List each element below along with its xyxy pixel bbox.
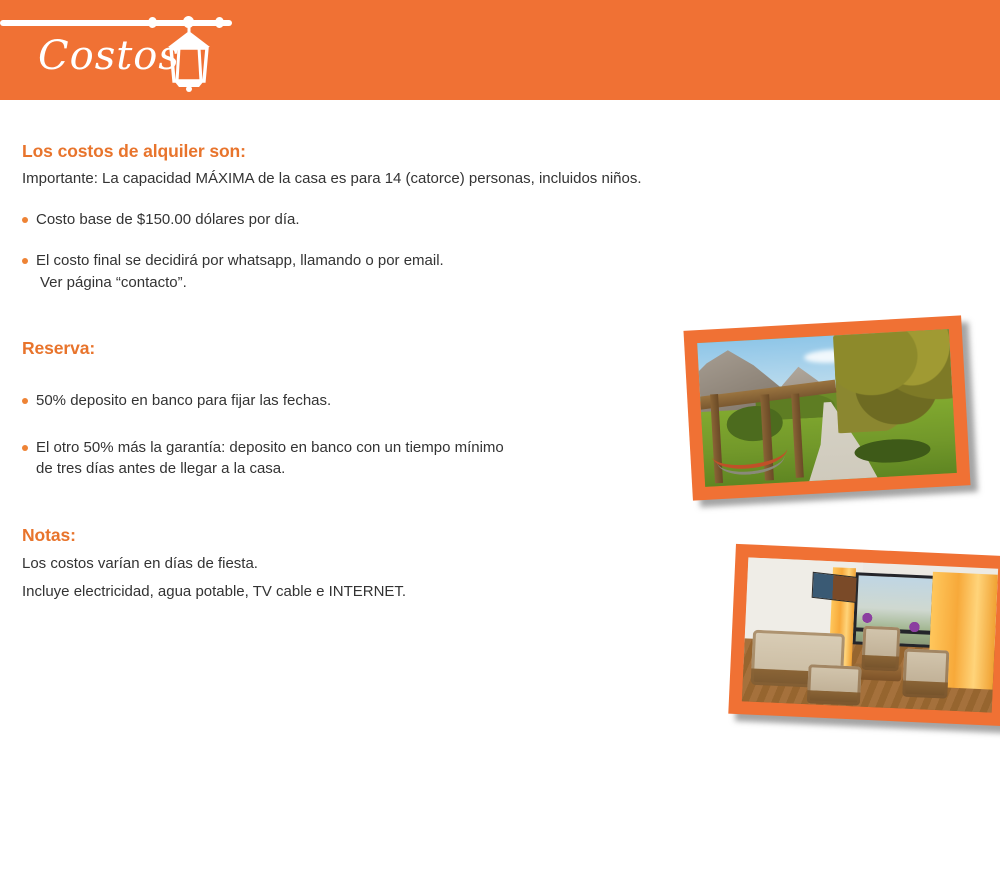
costos-important-paragraph: Importante: La capacidad MÁXIMA de la ca… — [22, 168, 652, 189]
notas-line-2: Incluye electricidad, agua potable, TV c… — [22, 581, 652, 602]
section-costos: Los costos de alquiler son: Importante: … — [22, 140, 652, 293]
list-item-line: El otro 50% más la garantía: deposito en… — [36, 439, 504, 456]
section-reserva: Reserva: 50% deposito en banco para fija… — [22, 337, 652, 480]
notas-line-1: Los costos varían en días de fiesta. — [22, 553, 652, 574]
spacer — [22, 360, 652, 390]
list-item: Costo base de $150.00 dólares por día. — [22, 209, 652, 230]
curtain-rod-bead — [215, 17, 224, 28]
list-item: El otro 50% más la garantía: deposito en… — [22, 437, 652, 480]
curtain-rod-bead — [148, 17, 157, 28]
spacer — [22, 411, 652, 437]
spacer — [22, 230, 652, 250]
garden-photo-image — [697, 329, 957, 487]
flower-shape — [858, 610, 876, 625]
livingroom-photo-image — [742, 557, 998, 712]
armchair-shape — [807, 664, 861, 705]
list-item-line: Ver página “contacto”. — [36, 274, 187, 291]
tree-shape — [833, 329, 957, 433]
spacer — [22, 480, 652, 524]
list-item: El costo final se decidirá por whatsapp,… — [22, 250, 652, 293]
spacer — [22, 293, 652, 337]
bullet-dot-icon — [22, 445, 28, 451]
notas-heading: Notas: — [22, 524, 652, 547]
list-item: 50% deposito en banco para fijar las fec… — [22, 390, 652, 411]
flower-shape — [905, 619, 923, 634]
armchair-shape — [861, 626, 900, 671]
list-item-line: 50% deposito en banco para fijar las fec… — [36, 392, 331, 409]
list-item-line: Costo base de $150.00 dólares por día. — [36, 211, 300, 228]
reserva-bullet-list: 50% deposito en banco para fijar las fec… — [22, 390, 652, 480]
main-content: Los costos de alquiler son: Importante: … — [22, 140, 652, 602]
livingroom-photo[interactable] — [728, 544, 1000, 726]
reserva-heading: Reserva: — [22, 337, 652, 360]
bullet-dot-icon — [22, 217, 28, 223]
page-title: Costos — [38, 36, 180, 76]
page-header-banner: Costos — [0, 0, 1000, 100]
costos-heading: Los costos de alquiler son: — [22, 140, 652, 163]
tv-shape — [812, 572, 858, 604]
bullet-dot-icon — [22, 258, 28, 264]
garden-photo[interactable] — [683, 315, 970, 500]
spacer — [22, 189, 652, 209]
armchair-shape — [902, 648, 949, 699]
list-item-line: de tres días antes de llegar a la casa. — [36, 460, 285, 477]
costos-bullet-list: Costo base de $150.00 dólares por día. E… — [22, 209, 652, 293]
list-item-line: El costo final se decidirá por whatsapp,… — [36, 252, 444, 269]
bullet-dot-icon — [22, 398, 28, 404]
section-notas: Notas: Los costos varían en días de fies… — [22, 524, 652, 602]
